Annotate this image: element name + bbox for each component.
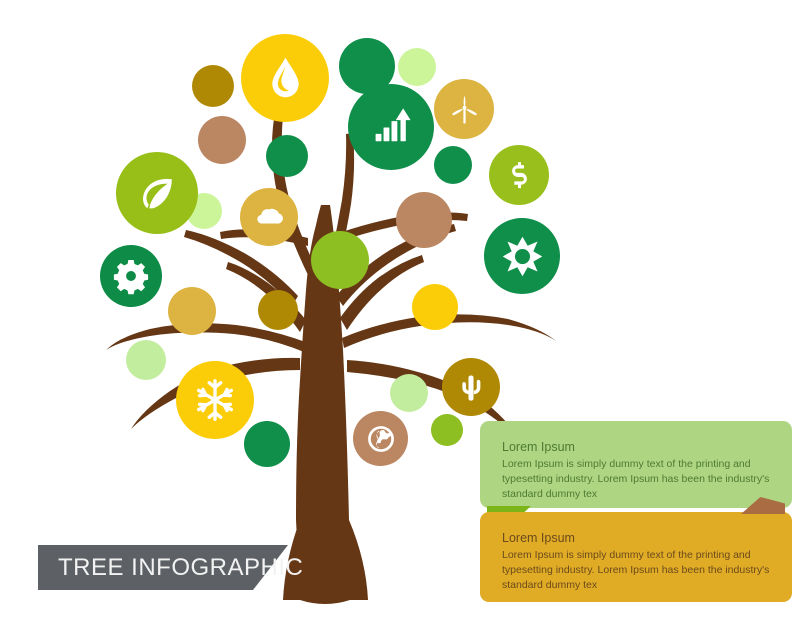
cactus-icon[interactable] <box>442 358 500 416</box>
water-drop-icon[interactable] <box>241 34 329 122</box>
leaf-blob <box>192 65 234 107</box>
leaf-blob <box>244 421 290 467</box>
growth-chart-icon-glyph <box>365 101 418 154</box>
globe-icon[interactable] <box>353 411 408 466</box>
callout-title: Lorem Ipsum <box>502 530 770 547</box>
globe-icon-glyph <box>364 422 398 456</box>
wind-turbine-icon-glyph <box>446 91 483 128</box>
gear-icon[interactable] <box>100 245 162 307</box>
leaf-blob <box>390 374 428 412</box>
leaf-blob <box>412 284 458 330</box>
leaf-blob <box>398 48 436 86</box>
cactus-icon-glyph <box>453 369 489 405</box>
leaf-blob <box>396 192 452 248</box>
cloud-icon[interactable] <box>240 188 298 246</box>
callout-box-gold[interactable]: Lorem Ipsum Lorem Ipsum is simply dummy … <box>480 512 792 602</box>
water-drop-icon-glyph <box>258 51 313 106</box>
leaf-blob <box>311 231 369 289</box>
growth-chart-icon[interactable] <box>348 84 434 170</box>
leaf-blob <box>266 135 308 177</box>
callout-box-green[interactable]: Lorem Ipsum Lorem Ipsum is simply dummy … <box>480 421 792 508</box>
gear-icon-glyph <box>112 257 150 295</box>
sun-icon-glyph <box>499 233 546 280</box>
snowflake-icon-glyph <box>191 376 239 424</box>
tree-infographic: TREE INFOGRAPHIC Lorem Ipsum Lorem Ipsum… <box>0 0 800 623</box>
leaf-blob <box>198 116 246 164</box>
wind-turbine-icon[interactable] <box>434 79 494 139</box>
dollar-sign-icon-glyph <box>501 157 538 194</box>
page-title: TREE INFOGRAPHIC <box>58 545 303 590</box>
snowflake-icon[interactable] <box>176 361 254 439</box>
leaf-blob <box>126 340 166 380</box>
leaf-blob <box>434 146 472 184</box>
leaf-icon-glyph <box>132 168 183 219</box>
callout-body: Lorem Ipsum is simply dummy text of the … <box>502 457 770 503</box>
leaf-icon[interactable] <box>116 152 198 234</box>
leaf-blob <box>258 290 298 330</box>
leaf-blob <box>168 287 216 335</box>
title-banner: TREE INFOGRAPHIC <box>38 545 288 590</box>
sun-icon[interactable] <box>484 218 560 294</box>
cloud-icon-glyph <box>251 199 287 235</box>
leaf-blob <box>431 414 463 446</box>
dollar-sign-icon[interactable] <box>489 145 549 205</box>
callout-body: Lorem Ipsum is simply dummy text of the … <box>502 548 770 594</box>
callout-title: Lorem Ipsum <box>502 439 770 456</box>
